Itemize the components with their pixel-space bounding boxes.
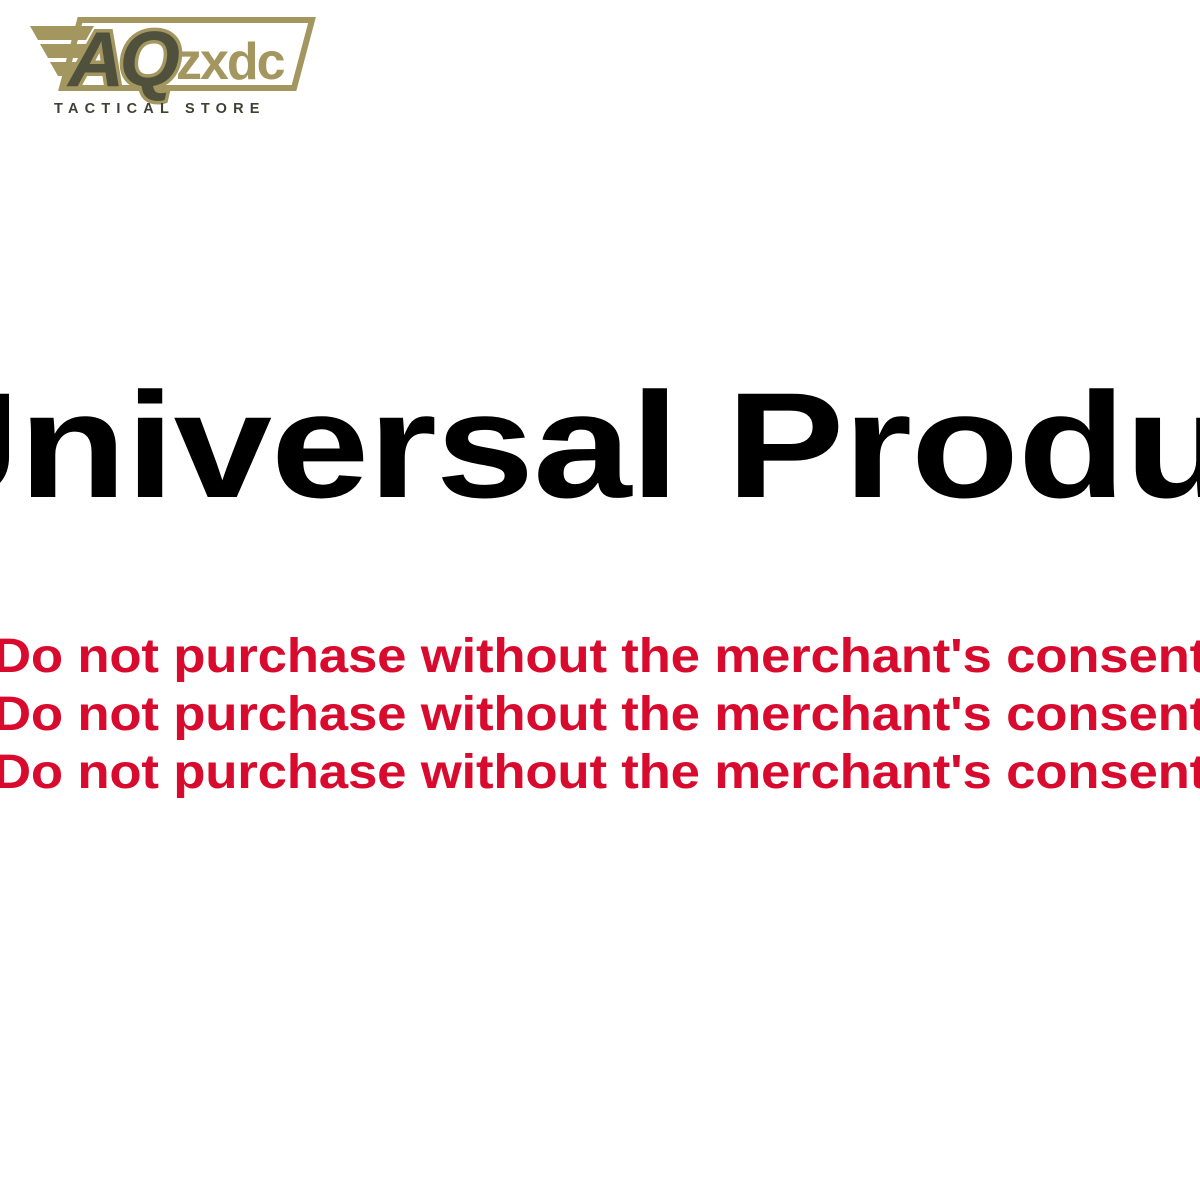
brand-logo[interactable]: AQ AQ zxdc TACTICAL STORE <box>18 10 318 122</box>
warning-line: Do not purchase without the merchant's c… <box>0 686 1200 744</box>
logo-zxdc: zxdc <box>176 33 285 91</box>
warning-block: Do not purchase without the merchant's c… <box>0 628 1200 802</box>
warning-line: Do not purchase without the merchant's c… <box>0 744 1200 802</box>
logo-tagline: TACTICAL STORE <box>54 102 266 117</box>
logo-letters-aq: AQ AQ <box>66 15 179 103</box>
logo-aq-fill: AQ <box>66 15 179 103</box>
page-title: Universal Products <box>0 369 1200 522</box>
warning-line: Do not purchase without the merchant's c… <box>0 628 1200 686</box>
